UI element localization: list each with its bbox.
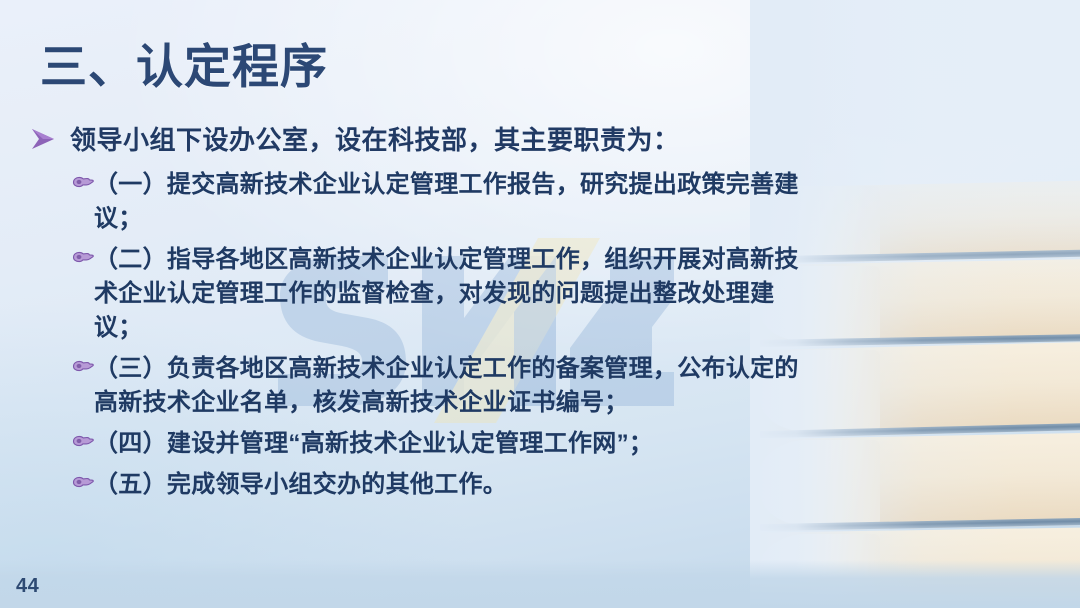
list-item: （五）完成领导小组交办的其他工作。: [30, 468, 820, 502]
pointing-hand-icon: [30, 358, 94, 386]
presentation-slide: 三、认定程序 领导小组下设办公室，设在科技部，其主要职责为： （一）: [0, 0, 1080, 608]
arrow-bullet-icon: [30, 128, 56, 158]
list-item: （一）提交高新技术企业认定管理工作报告，研究提出政策完善建议；: [30, 168, 820, 236]
list-item-text: （一）提交高新技术企业认定管理工作报告，研究提出政策完善建议；: [94, 168, 820, 236]
lead-bullet: 领导小组下设办公室，设在科技部，其主要职责为：: [30, 124, 820, 157]
responsibility-list: （一）提交高新技术企业认定管理工作报告，研究提出政策完善建议； （二）指导各地区…: [30, 168, 820, 503]
list-item-text: （二）指导各地区高新技术企业认定管理工作，组织开展对高新技术企业认定管理工作的监…: [94, 243, 820, 345]
pointing-hand-icon: [30, 433, 94, 461]
slide-content: 领导小组下设办公室，设在科技部，其主要职责为： （一）提交高新技术企业认定管理工…: [30, 124, 820, 509]
pointing-hand-icon: [30, 249, 94, 277]
pointing-hand-icon: [30, 174, 94, 202]
list-item: （四）建设并管理“高新技术企业认定管理工作网”；: [30, 427, 820, 461]
page-title: 三、认定程序: [40, 41, 328, 93]
list-item-text: （四）建设并管理“高新技术企业认定管理工作网”；: [94, 427, 820, 461]
footer-band: [0, 560, 1080, 608]
lead-bullet-text: 领导小组下设办公室，设在科技部，其主要职责为：: [70, 124, 680, 157]
list-item: （二）指导各地区高新技术企业认定管理工作，组织开展对高新技术企业认定管理工作的监…: [30, 243, 820, 345]
list-item: （三）负责各地区高新技术企业认定工作的备案管理，公布认定的高新技术企业名单，核发…: [30, 352, 820, 420]
page-number: 44: [16, 575, 39, 598]
pointing-hand-icon: [30, 474, 94, 502]
list-item-text: （三）负责各地区高新技术企业认定工作的备案管理，公布认定的高新技术企业名单，核发…: [94, 352, 820, 420]
list-item-text: （五）完成领导小组交办的其他工作。: [94, 468, 820, 502]
